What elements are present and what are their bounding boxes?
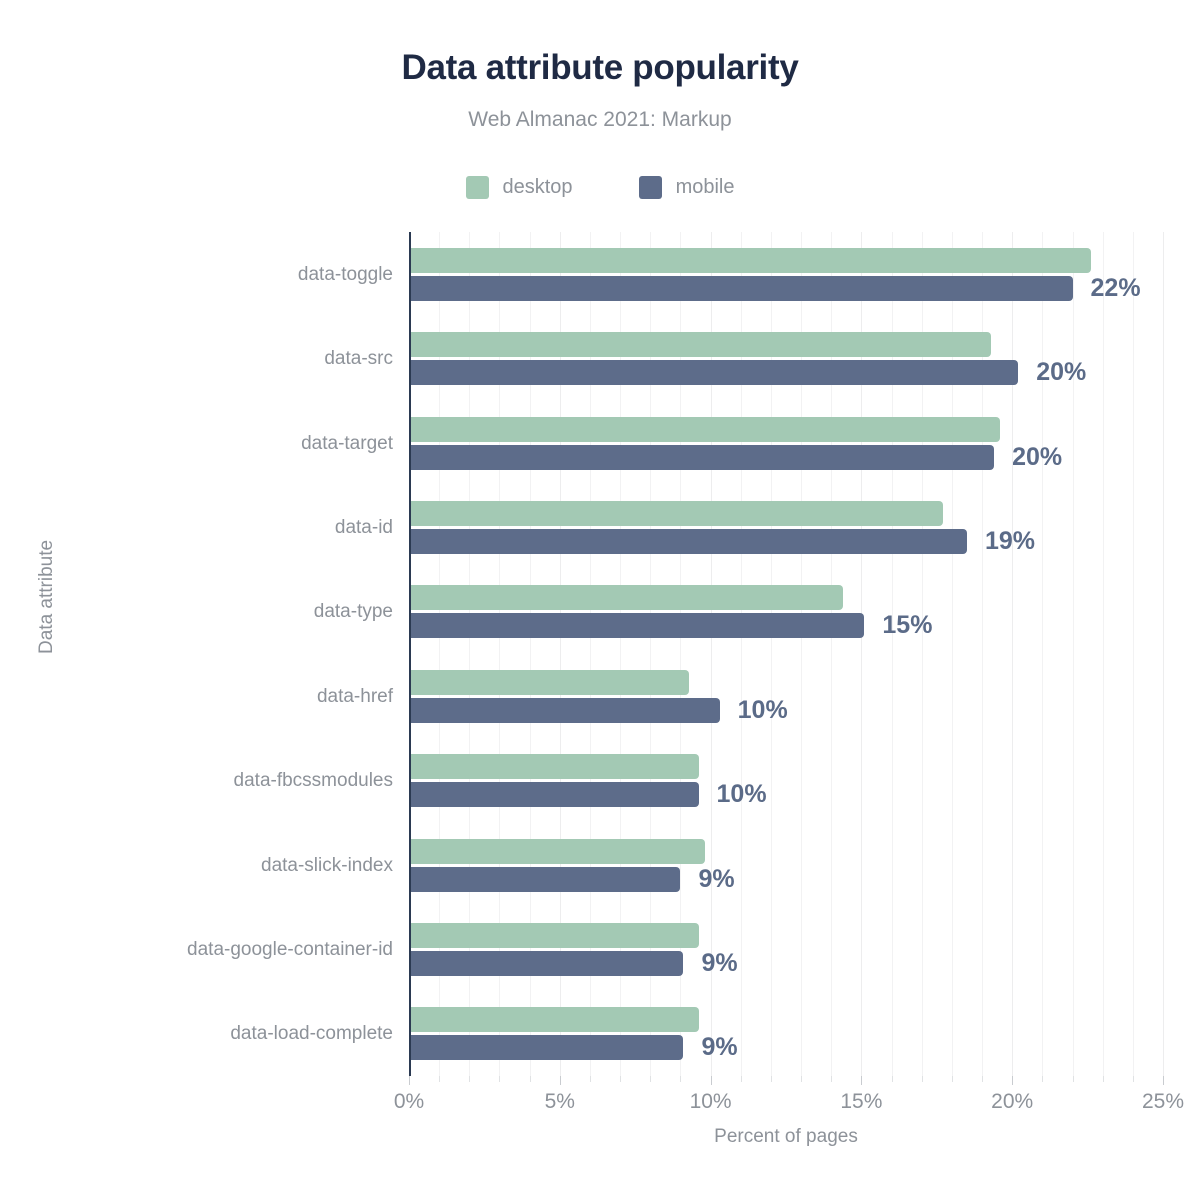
x-axis-tick bbox=[861, 1076, 862, 1085]
bar-mobile[interactable] bbox=[409, 276, 1073, 301]
x-axis-tick bbox=[620, 1076, 621, 1082]
bar-mobile[interactable] bbox=[409, 613, 864, 638]
x-axis-tick-label: 15% bbox=[840, 1090, 882, 1114]
bar-desktop[interactable] bbox=[409, 417, 1000, 442]
x-axis-title: Percent of pages bbox=[409, 1126, 1163, 1148]
bar-desktop[interactable] bbox=[409, 332, 991, 357]
bar-group: 19% bbox=[409, 501, 1163, 554]
x-axis-tick bbox=[831, 1076, 832, 1082]
x-axis-tick bbox=[469, 1076, 470, 1082]
bar-group: 9% bbox=[409, 923, 1163, 976]
y-axis-label-data-fbcssmodules: data-fbcssmodules bbox=[0, 770, 393, 792]
bar-mobile[interactable] bbox=[409, 867, 680, 892]
legend-swatch-desktop bbox=[466, 176, 489, 199]
gridline bbox=[1163, 232, 1164, 1076]
x-axis-tick bbox=[439, 1076, 440, 1082]
bar-desktop[interactable] bbox=[409, 248, 1091, 273]
y-axis-label-data-src: data-src bbox=[0, 348, 393, 370]
bar-value-label: 9% bbox=[701, 949, 737, 978]
legend-label-desktop: desktop bbox=[503, 176, 573, 199]
bar-value-label: 10% bbox=[738, 696, 788, 725]
bar-value-label: 19% bbox=[985, 527, 1035, 556]
x-axis-tick-label: 25% bbox=[1142, 1090, 1184, 1114]
x-axis-tick-label: 20% bbox=[991, 1090, 1033, 1114]
legend-item-mobile[interactable]: mobile bbox=[639, 176, 735, 199]
bar-group: 22% bbox=[409, 248, 1163, 301]
bar-value-label: 9% bbox=[698, 865, 734, 894]
chart-subtitle: Web Almanac 2021: Markup bbox=[0, 108, 1200, 132]
bar-group: 10% bbox=[409, 670, 1163, 723]
bar-group: 20% bbox=[409, 417, 1163, 470]
x-axis-tick-label: 5% bbox=[545, 1090, 575, 1114]
bar-value-label: 10% bbox=[717, 780, 767, 809]
bar-mobile[interactable] bbox=[409, 445, 994, 470]
x-axis-tick bbox=[1012, 1076, 1013, 1085]
y-axis-label-data-load-complete: data-load-complete bbox=[0, 1023, 393, 1045]
x-axis-ticks: 0%5%10%15%20%25% bbox=[409, 1076, 1163, 1116]
y-axis-title: Data attribute bbox=[36, 540, 58, 654]
x-axis-tick bbox=[771, 1076, 772, 1082]
x-axis-tick bbox=[892, 1076, 893, 1082]
y-axis-label-data-href: data-href bbox=[0, 686, 393, 708]
plot-area: 22%20%20%19%15%10%10%9%9%9% bbox=[409, 232, 1163, 1076]
bar-desktop[interactable] bbox=[409, 1007, 699, 1032]
bar-value-label: 22% bbox=[1091, 274, 1141, 303]
x-axis-tick bbox=[741, 1076, 742, 1082]
bar-desktop[interactable] bbox=[409, 754, 699, 779]
x-axis-tick-label: 0% bbox=[394, 1090, 424, 1114]
bar-value-label: 15% bbox=[882, 611, 932, 640]
x-axis-tick-label: 10% bbox=[690, 1090, 732, 1114]
x-axis-tick bbox=[1073, 1076, 1074, 1082]
legend-swatch-mobile bbox=[639, 176, 662, 199]
x-axis-tick bbox=[1133, 1076, 1134, 1082]
x-axis-tick bbox=[499, 1076, 500, 1082]
x-axis-tick bbox=[1042, 1076, 1043, 1082]
x-axis-tick bbox=[711, 1076, 712, 1085]
bar-desktop[interactable] bbox=[409, 501, 943, 526]
y-axis-label-data-google-container-id: data-google-container-id bbox=[0, 939, 393, 961]
y-axis-label-data-type: data-type bbox=[0, 601, 393, 623]
x-axis-tick bbox=[1163, 1076, 1164, 1085]
bar-desktop[interactable] bbox=[409, 923, 699, 948]
bar-value-label: 20% bbox=[1012, 443, 1062, 472]
bar-mobile[interactable] bbox=[409, 360, 1018, 385]
x-axis-tick bbox=[650, 1076, 651, 1082]
x-axis-tick bbox=[590, 1076, 591, 1082]
x-axis-tick bbox=[982, 1076, 983, 1082]
legend-label-mobile: mobile bbox=[676, 176, 735, 199]
x-axis-tick bbox=[560, 1076, 561, 1085]
chart-legend: desktopmobile bbox=[0, 176, 1200, 199]
bar-mobile[interactable] bbox=[409, 1035, 683, 1060]
x-axis-tick bbox=[530, 1076, 531, 1082]
chart-title: Data attribute popularity bbox=[0, 48, 1200, 88]
x-axis-tick bbox=[1103, 1076, 1104, 1082]
x-axis-tick bbox=[922, 1076, 923, 1082]
bar-mobile[interactable] bbox=[409, 698, 720, 723]
bar-mobile[interactable] bbox=[409, 782, 699, 807]
bar-desktop[interactable] bbox=[409, 585, 843, 610]
y-axis-label-data-target: data-target bbox=[0, 433, 393, 455]
x-axis-tick bbox=[680, 1076, 681, 1082]
bar-mobile[interactable] bbox=[409, 529, 967, 554]
bar-group: 9% bbox=[409, 1007, 1163, 1060]
x-axis-tick bbox=[801, 1076, 802, 1082]
y-axis-label-data-toggle: data-toggle bbox=[0, 264, 393, 286]
bar-desktop[interactable] bbox=[409, 839, 705, 864]
x-axis-tick bbox=[952, 1076, 953, 1082]
legend-item-desktop[interactable]: desktop bbox=[466, 176, 573, 199]
bar-value-label: 9% bbox=[701, 1033, 737, 1062]
chart-figure: Data attribute popularity Web Almanac 20… bbox=[0, 0, 1200, 1198]
bar-value-label: 20% bbox=[1036, 358, 1086, 387]
y-axis-line bbox=[409, 232, 411, 1076]
bar-group: 9% bbox=[409, 839, 1163, 892]
y-axis-label-data-id: data-id bbox=[0, 517, 393, 539]
y-axis-category-labels: data-toggledata-srcdata-targetdata-iddat… bbox=[0, 232, 393, 1076]
bar-mobile[interactable] bbox=[409, 951, 683, 976]
y-axis-label-data-slick-index: data-slick-index bbox=[0, 855, 393, 877]
bar-desktop[interactable] bbox=[409, 670, 689, 695]
bar-group: 10% bbox=[409, 754, 1163, 807]
x-axis-tick bbox=[409, 1076, 410, 1085]
bar-group: 20% bbox=[409, 332, 1163, 385]
bar-group: 15% bbox=[409, 585, 1163, 638]
